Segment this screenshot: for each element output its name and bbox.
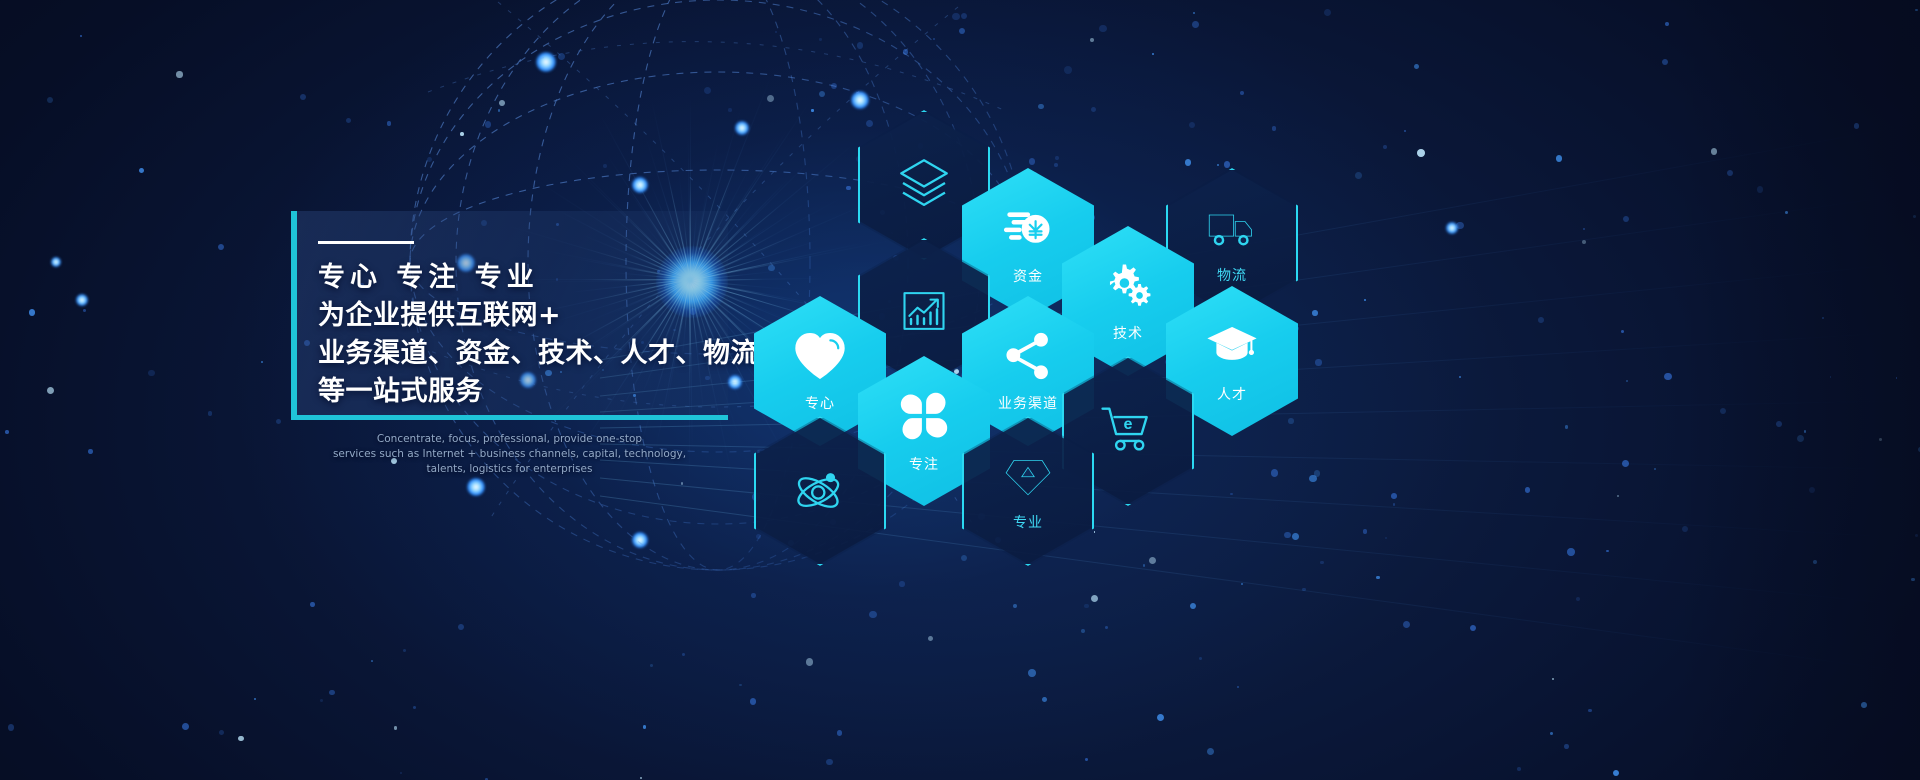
hexagon-label: 专注 [909,454,939,474]
particle-dot [1099,25,1107,33]
particle-dot [219,730,224,735]
particle-dot [1665,22,1670,27]
subtitle-line-1: Concentrate, focus, professional, provid… [291,432,728,447]
particle-dot [218,244,224,250]
particle-dot [640,777,642,779]
subtitle-line-3: talents, logistics for enterprises [291,462,728,477]
headline-line-3: 业务渠道、资金、技术、人才、物流 [318,335,738,373]
particle-dot [320,699,323,702]
particle-dot [403,649,406,652]
particle-dot [8,724,14,730]
headline-group: 专心 专注 专业 为企业提供互联网+ 业务渠道、资金、技术、人才、物流 等一站式… [318,259,738,411]
particle-dot [238,736,243,741]
heart-icon [792,330,848,386]
hexagon-label: 业务渠道 [998,393,1058,413]
particle-dot [5,430,9,434]
headline-panel: 专心 专注 专业 为企业提供互联网+ 业务渠道、资金、技术、人才、物流 等一站式… [291,211,728,420]
particle-dot [1564,744,1569,749]
hexagon-label: 人才 [1217,384,1247,404]
particle-dot [47,97,53,103]
particle-dot [1193,12,1195,14]
diamond-icon [1003,451,1053,505]
particle-dot [1613,770,1619,776]
particle-dot [176,71,182,77]
particle-dot [394,726,398,730]
particle-glow [51,257,61,267]
hexagon-label: 资金 [1013,266,1043,286]
particle-dot [400,772,402,774]
hexagon-cluster: 资金物流技术人才专心业务渠道专注e专业 [744,110,1920,640]
particle-dot [182,723,189,730]
particle-dot [276,419,281,424]
particle-dot [826,759,833,766]
hexagon-label: 专心 [805,393,835,413]
particle-dot [148,370,155,377]
particle-dot [837,730,843,736]
shopping-cart-e-icon: e [1100,404,1156,458]
particle-dot [413,706,416,709]
particle-dot [1152,53,1154,55]
hexagon-label: 物流 [1217,265,1247,285]
title-rule [318,241,414,244]
particle-dot [1517,767,1521,771]
particle-dot [80,35,82,37]
particle-dot [1324,9,1331,16]
gears-icon [1102,260,1154,316]
particle-dot [458,624,464,630]
subtitle-line-2: services such as Internet + business cha… [291,447,728,462]
headline-line-2: 为企业提供互联网+ [318,297,738,335]
share-nodes-icon [1002,330,1054,386]
particle-dot [371,660,373,662]
layers-icon [896,155,952,215]
particle-dot [1207,748,1214,755]
clover-icon [897,389,951,447]
particle-dot [329,690,335,696]
particle-dot [1550,732,1553,735]
particle-dot [261,361,263,363]
particle-dot [83,309,87,313]
particle-dot [29,309,35,315]
particle-dot [1915,9,1917,11]
headline-line-4: 等一站式服务 [318,373,738,411]
hexagon-label: 技术 [1113,323,1143,343]
particle-dot [139,168,144,173]
particle-dot [254,698,256,700]
particle-dot [300,94,306,100]
particle-dot [1085,758,1089,762]
particle-dot [208,411,212,415]
truck-icon [1206,202,1258,258]
svg-text:e: e [1124,415,1133,433]
particle-dot [1090,38,1094,42]
particle-dot [1588,709,1591,712]
money-yen-icon [1001,201,1055,259]
particle-dot [1192,21,1199,28]
graduation-cap-icon [1205,319,1259,377]
particle-dot [88,449,93,454]
particle-dot [1861,702,1867,708]
particle-glow [76,294,88,306]
particle-dot [643,725,647,729]
particle-dot [47,387,54,394]
particle-dot [1157,714,1164,721]
particle-dot [310,602,315,607]
headline-line-1: 专心 专注 专业 [318,259,738,297]
subtitle-block: Concentrate, focus, professional, provid… [291,432,728,477]
chart-growth-icon [898,285,950,341]
banner-stage: 专心 专注 专业 为企业提供互联网+ 业务渠道、资金、技术、人才、物流 等一站式… [0,0,1920,780]
particle-dot [346,118,351,123]
atom-icon [792,461,848,521]
hexagon-label: 专业 [1013,512,1043,532]
